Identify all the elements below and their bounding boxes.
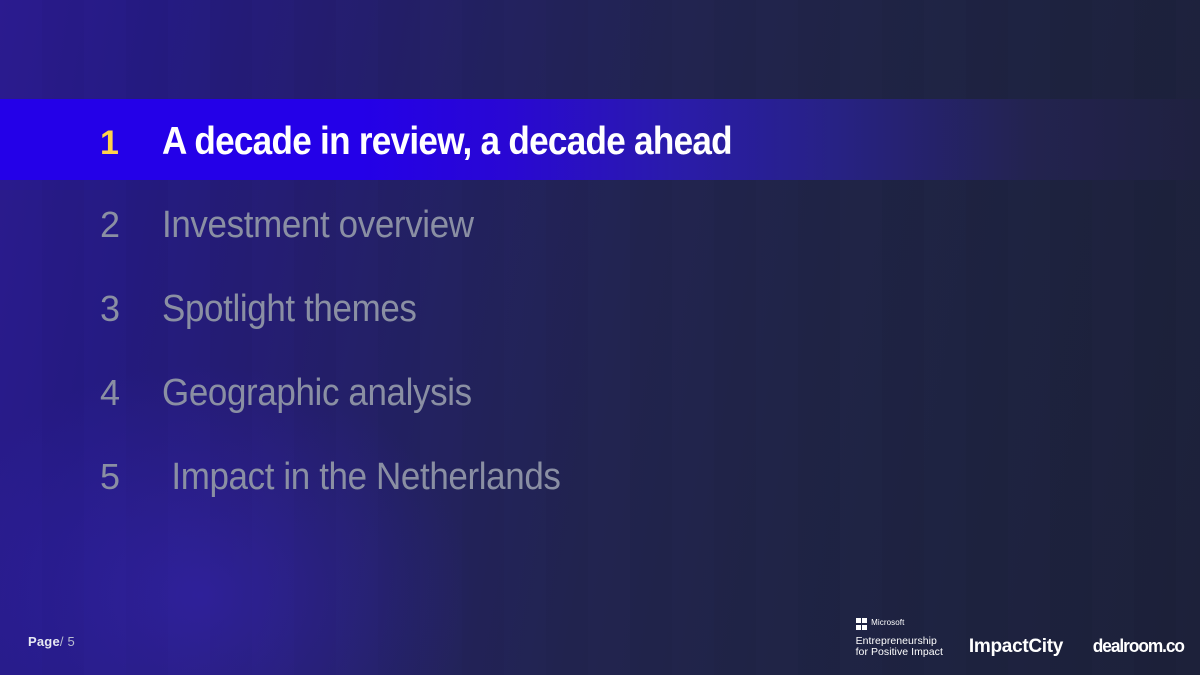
dealroom-logo: dealroom.co bbox=[1093, 636, 1184, 659]
agenda-item-2-number: 2 bbox=[100, 207, 162, 243]
microsoft-entrepreneurship-logo: Microsoft Entrepreneurship for Positive … bbox=[856, 618, 943, 659]
page-indicator: Page/ 5 bbox=[28, 634, 75, 649]
agenda-item-4[interactable]: 4 Geographic analysis bbox=[0, 351, 1200, 435]
agenda-item-1-number: 1 bbox=[100, 126, 162, 160]
agenda-item-1-label: A decade in review, a decade ahead bbox=[162, 122, 732, 161]
agenda-item-2[interactable]: 2 Investment overview bbox=[0, 183, 1200, 267]
agenda-item-1[interactable]: 1 A decade in review, a decade ahead bbox=[0, 99, 1200, 183]
agenda-item-5-label: Impact in the Netherlands bbox=[162, 458, 561, 496]
agenda-item-4-number: 4 bbox=[100, 375, 162, 411]
page-indicator-total: / 5 bbox=[60, 634, 75, 649]
agenda-list: 1 A decade in review, a decade ahead 2 I… bbox=[0, 99, 1200, 519]
partner-logos: Microsoft Entrepreneurship for Positive … bbox=[856, 618, 1184, 659]
presentation-slide: 1 A decade in review, a decade ahead 2 I… bbox=[0, 0, 1200, 675]
page-indicator-label: Page bbox=[28, 634, 60, 649]
microsoft-wordmark: Microsoft bbox=[871, 619, 904, 628]
agenda-item-5-number: 5 bbox=[100, 459, 162, 495]
impactcity-logo: ImpactCity bbox=[969, 636, 1063, 659]
agenda-item-3[interactable]: 3 Spotlight themes bbox=[0, 267, 1200, 351]
agenda-item-5[interactable]: 5 Impact in the Netherlands bbox=[0, 435, 1200, 519]
microsoft-squares-icon bbox=[856, 618, 868, 630]
agenda-item-4-label: Geographic analysis bbox=[162, 374, 472, 412]
agenda-item-3-number: 3 bbox=[100, 291, 162, 327]
agenda-item-3-label: Spotlight themes bbox=[162, 290, 417, 328]
microsoft-program-line-2: for Positive Impact bbox=[856, 647, 943, 659]
agenda-item-2-label: Investment overview bbox=[162, 206, 474, 244]
